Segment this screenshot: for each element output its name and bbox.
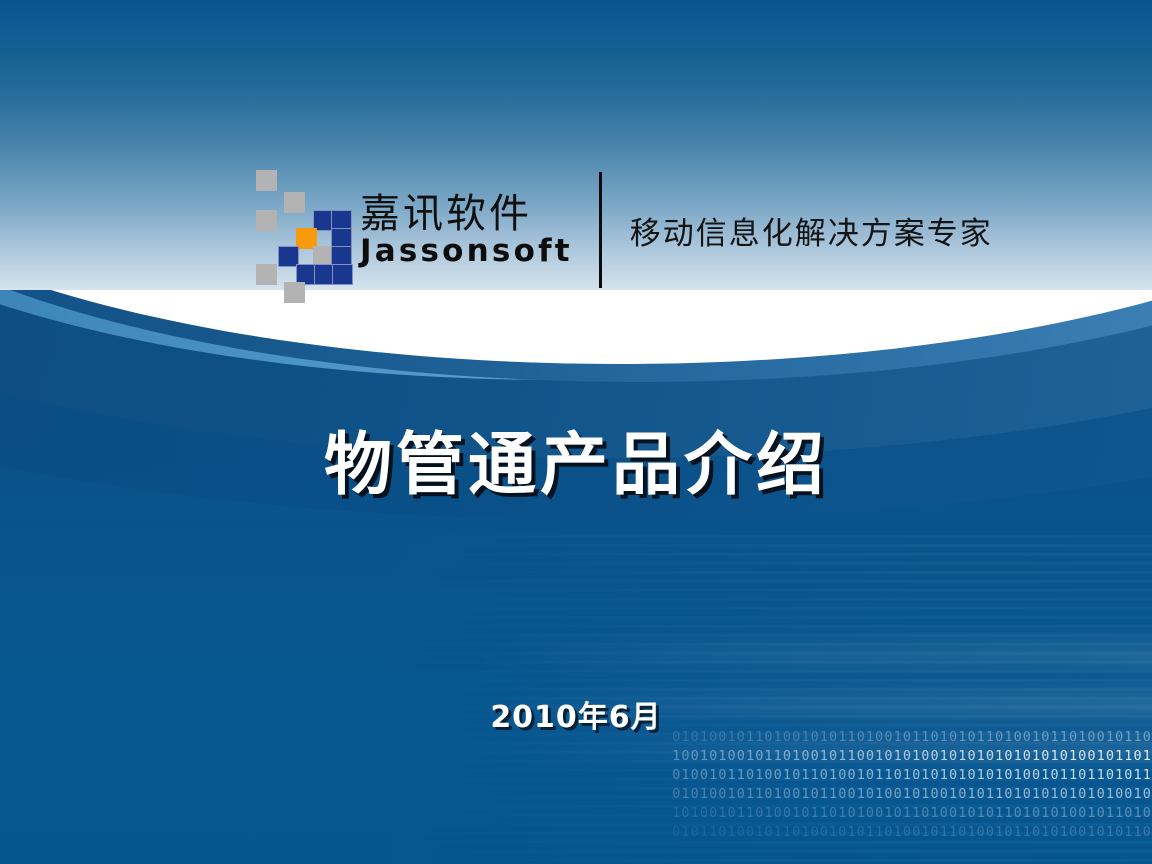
brand-name-cn: 嘉讯软件	[360, 192, 573, 236]
mosaic-square-gray	[284, 192, 305, 213]
mosaic-square-gray	[256, 264, 277, 285]
presentation-date: 2010年6月	[0, 698, 1152, 738]
jassonsoft-mosaic-logo-icon	[256, 170, 356, 290]
brand-tagline: 移动信息化解决方案专家	[630, 208, 993, 253]
mosaic-square-gray	[256, 210, 277, 231]
page-title: 物管通产品介绍	[0, 424, 1152, 508]
brand-name-en: Jassonsoft	[360, 234, 573, 268]
mosaic-square-navy	[332, 264, 353, 285]
logo-divider	[599, 172, 602, 288]
brand-logo-lockup: 嘉讯软件 Jassonsoft 移动信息化解决方案专家	[256, 166, 993, 294]
presentation-slide: 0101001011010010101101001011010101101001…	[0, 0, 1152, 864]
mosaic-square-gray	[284, 282, 305, 303]
brand-wordmark: 嘉讯软件 Jassonsoft	[360, 192, 573, 268]
mosaic-square-gray	[256, 170, 277, 191]
